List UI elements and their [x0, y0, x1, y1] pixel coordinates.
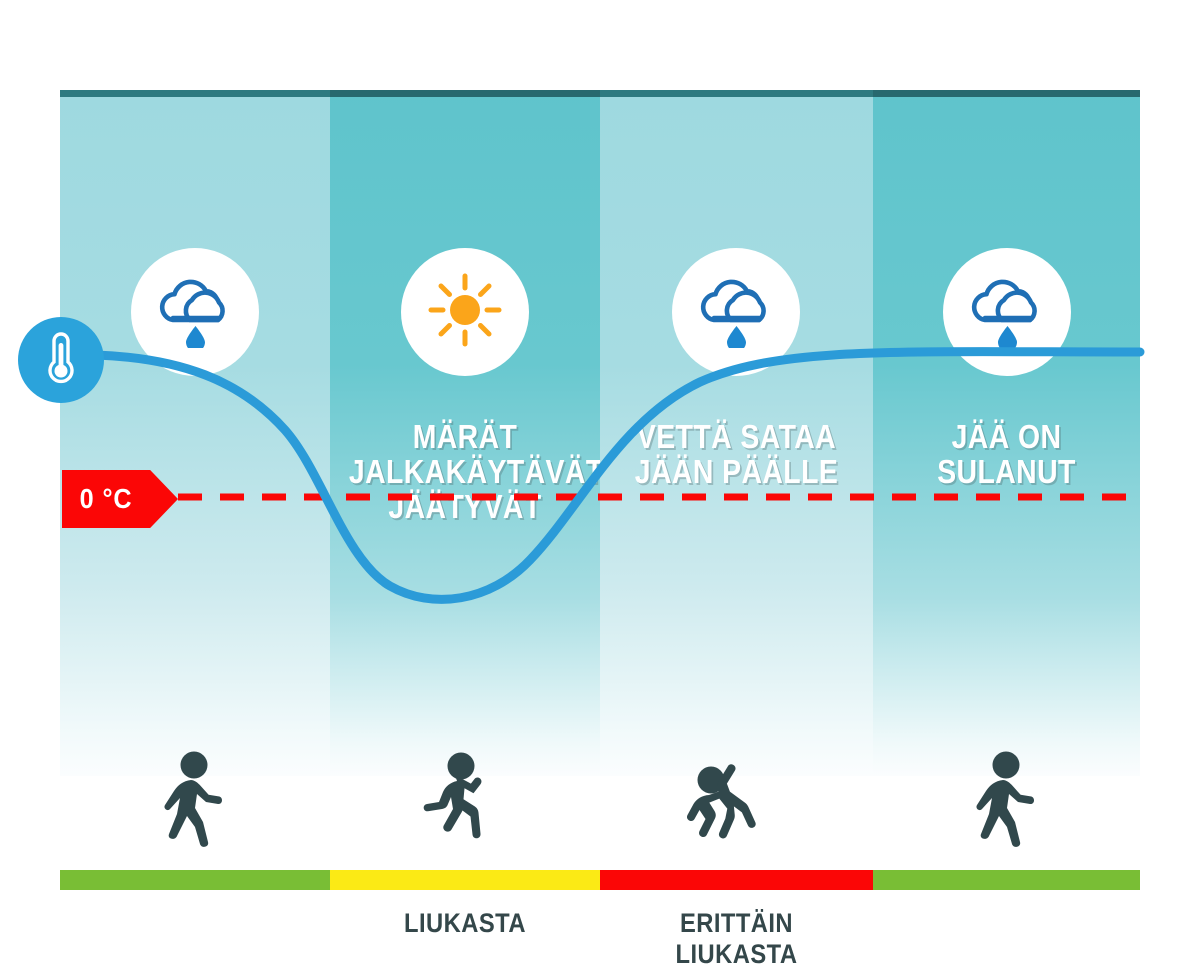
zero-degree-badge[interactable]: 0 °C — [62, 470, 178, 528]
grade-bar-safe-1 — [60, 870, 330, 890]
grade-label-very-slippery: ERITTÄIN LIUKASTA — [616, 908, 856, 970]
grade-label-slippery: LIUKASTA — [346, 908, 584, 939]
grade-bar-safe-2 — [873, 870, 1140, 890]
grade-bar-slippery — [330, 870, 600, 890]
thermometer-badge[interactable] — [18, 317, 104, 403]
grade-bar-very-slippery — [600, 870, 873, 890]
zero-degree-label: 0 °C — [66, 470, 145, 528]
thermometer-icon — [43, 330, 79, 391]
temperature-curve — [60, 90, 1140, 776]
infographic-root: MÄRÄT JALKAKÄYTÄVÄT JÄÄTYVÄT — [0, 0, 1200, 886]
chart-area: MÄRÄT JALKAKÄYTÄVÄT JÄÄTYVÄT — [60, 90, 1140, 776]
